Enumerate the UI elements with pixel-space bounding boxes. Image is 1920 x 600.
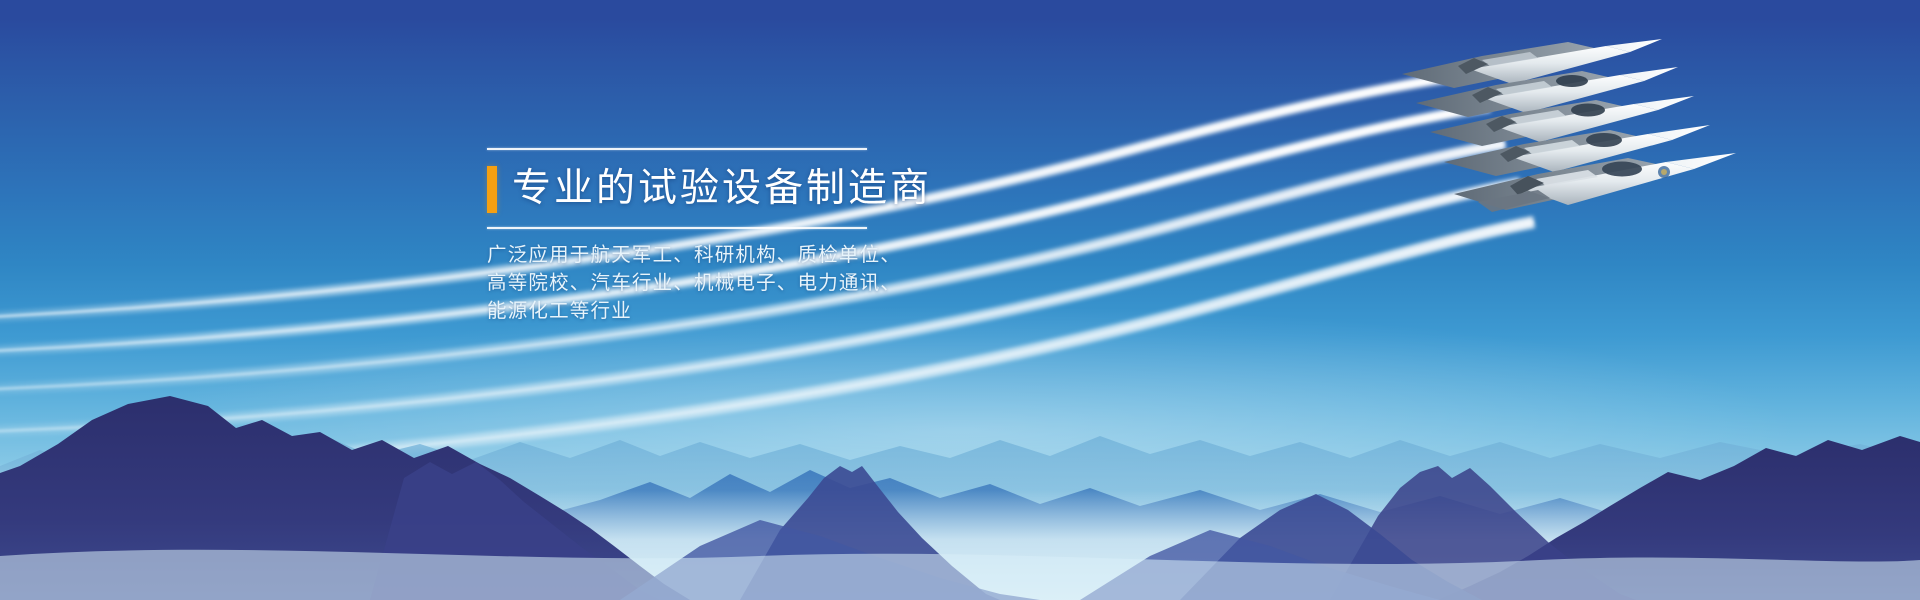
subtitle-line-2: 高等院校、汽车行业、机械电子、电力通讯、 <box>487 269 879 297</box>
subtitle-line-3: 能源化工等行业 <box>487 297 879 325</box>
banner-text-block: 专业的试验设备制造商 广泛应用于航天军工、科研机构、质检单位、 高等院校、汽车行… <box>487 148 879 325</box>
subtitle-line-1: 广泛应用于航天军工、科研机构、质检单位、 <box>487 241 879 269</box>
hero-banner: 专业的试验设备制造商 广泛应用于航天军工、科研机构、质检单位、 高等院校、汽车行… <box>0 0 1920 600</box>
page-title: 专业的试验设备制造商 <box>512 166 932 212</box>
mountain-range-icon <box>0 370 1920 600</box>
headline-row: 专业的试验设备制造商 <box>487 160 879 218</box>
divider-bottom <box>487 227 867 229</box>
fighter-jet-icon <box>1380 52 1800 282</box>
vertical-bar-icon <box>487 166 497 213</box>
banner-subtitle: 广泛应用于航天军工、科研机构、质检单位、 高等院校、汽车行业、机械电子、电力通讯… <box>487 241 879 325</box>
divider-top <box>487 148 867 150</box>
